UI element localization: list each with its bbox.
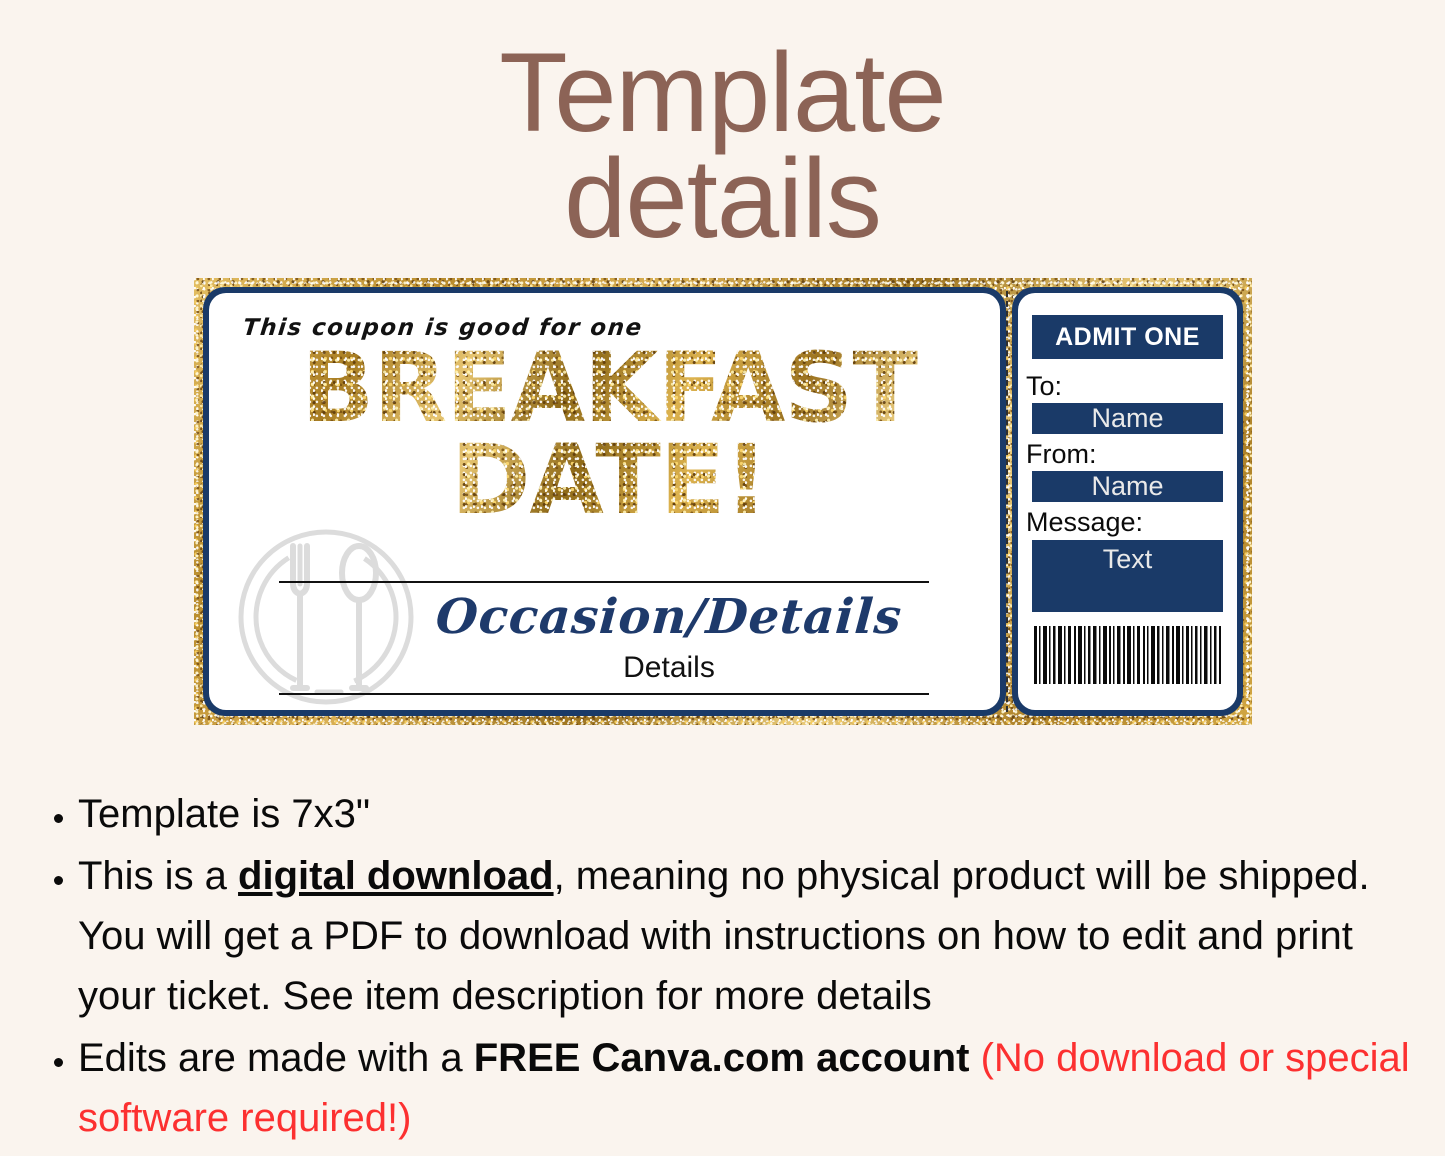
details-label: Details: [409, 651, 929, 685]
bullet-text-segment: This is a: [78, 854, 238, 898]
bullet-text-segment: digital download: [238, 854, 554, 898]
bullet-size: Template is 7x3": [78, 784, 1418, 844]
occasion-rule-top: [279, 581, 929, 583]
bullet-text-segment: Edits are made with a: [78, 1036, 474, 1080]
ticket-preview: This coupon is good for one BREAKFAST DA…: [194, 278, 1252, 725]
bullet-text-segment: FREE Canva.com account: [474, 1036, 970, 1080]
stub-to-label: To:: [1026, 371, 1062, 402]
ticket-navy-layer: This coupon is good for one BREAKFAST DA…: [203, 287, 1243, 716]
bullet-list: Template is 7x3"This is a digital downlo…: [28, 784, 1418, 1148]
ticket-main-face: This coupon is good for one BREAKFAST DA…: [209, 293, 1000, 710]
template-details-bullets: Template is 7x3"This is a digital downlo…: [28, 784, 1418, 1150]
bullet-digital-download: This is a digital download, meaning no p…: [78, 846, 1418, 1026]
stub-from-label: From:: [1026, 439, 1097, 470]
ticket-title-line-2: DATE!: [249, 433, 969, 527]
barcode-icon: [1032, 626, 1223, 684]
occasion-script-text: Occasion/Details: [407, 589, 931, 645]
stub-message-label: Message:: [1026, 507, 1143, 538]
stub-to-field[interactable]: Name: [1032, 403, 1223, 434]
occasion-rule-bottom: [279, 693, 929, 695]
bullet-text-segment: Template is 7x3": [78, 792, 370, 836]
stub-message-field[interactable]: Text: [1032, 540, 1223, 612]
page-title: Template details: [0, 40, 1445, 253]
bullet-text-segment: [969, 1036, 980, 1080]
ticket-perforation-line: [1006, 291, 1008, 712]
bullet-canva: Edits are made with a FREE Canva.com acc…: [78, 1028, 1418, 1148]
template-details-page: Template details: [0, 0, 1445, 1156]
admit-one-badge: ADMIT ONE: [1032, 315, 1223, 359]
plate-fork-spoon-icon: [237, 528, 415, 706]
ticket-title-line-1: BREAKFAST: [249, 341, 969, 435]
page-title-line-2: details: [0, 146, 1445, 252]
ticket-stub-face: ADMIT ONE To: Name From: Name Message: T…: [1018, 293, 1237, 710]
stub-from-field[interactable]: Name: [1032, 471, 1223, 502]
